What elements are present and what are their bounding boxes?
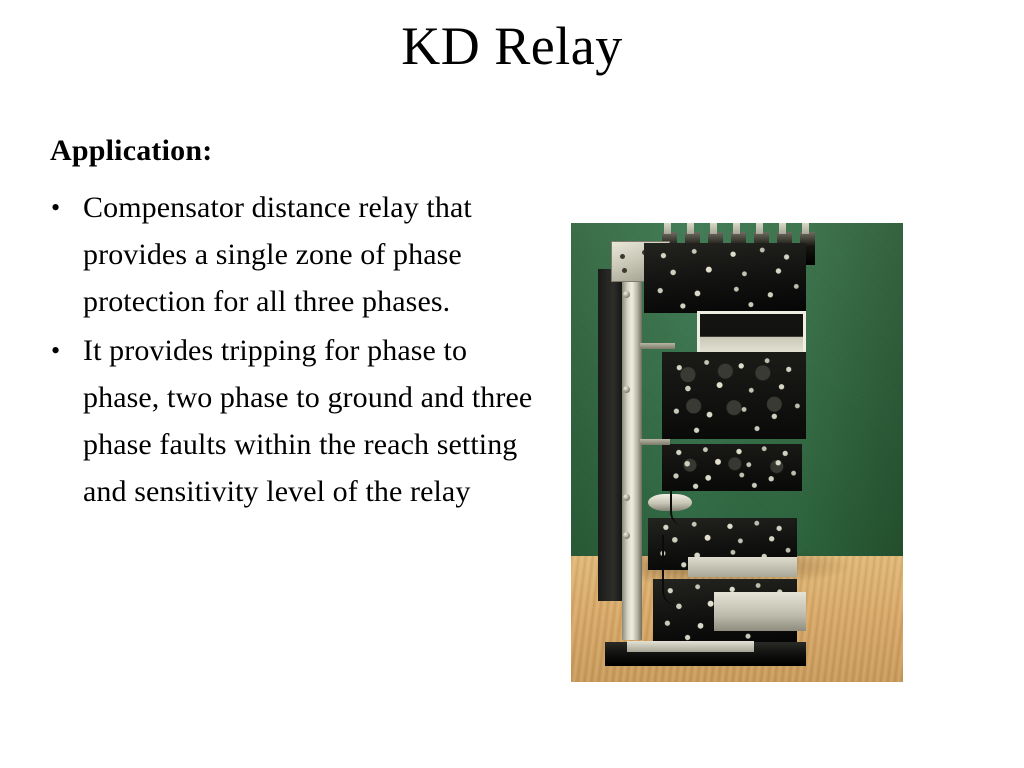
application-bullet-list: • Compensator distance relay that provid… xyxy=(50,184,550,515)
bracket-hole xyxy=(622,268,627,273)
lower-metal-panel xyxy=(688,557,798,577)
relay-assembly xyxy=(596,230,815,666)
rail-screw xyxy=(623,291,630,298)
slide-title: KD Relay xyxy=(0,14,1024,78)
chassis-back-plate xyxy=(598,269,624,600)
cross-brace xyxy=(640,439,671,445)
rail-screw xyxy=(623,386,630,393)
bullet-dot-icon: • xyxy=(51,327,63,374)
module-upper-transformer xyxy=(644,243,806,313)
internal-wiring xyxy=(670,474,694,526)
bullet-dot-icon: • xyxy=(51,184,63,231)
list-item: • Compensator distance relay that provid… xyxy=(50,184,550,325)
rail-screw xyxy=(623,532,630,539)
bullet-text: Compensator distance relay that provides… xyxy=(83,184,550,325)
hardware-speckles xyxy=(644,243,806,313)
relay-photograph xyxy=(571,223,903,682)
bracket-hole xyxy=(620,254,625,259)
module-compensator-coils xyxy=(662,352,807,439)
internal-wiring xyxy=(662,535,695,605)
bullet-text: It provides tripping for phase to phase,… xyxy=(83,327,550,515)
chassis-vertical-rail xyxy=(622,256,642,640)
section-heading: Application: xyxy=(50,132,550,170)
relay-base-rail xyxy=(627,641,754,652)
cross-brace xyxy=(640,343,675,349)
rail-screw xyxy=(623,494,630,501)
content-column: Application: • Compensator distance rela… xyxy=(50,132,550,517)
list-item: • It provides tripping for phase to phas… xyxy=(50,327,550,515)
tap-plate xyxy=(714,592,806,631)
hardware-speckles xyxy=(662,352,807,439)
